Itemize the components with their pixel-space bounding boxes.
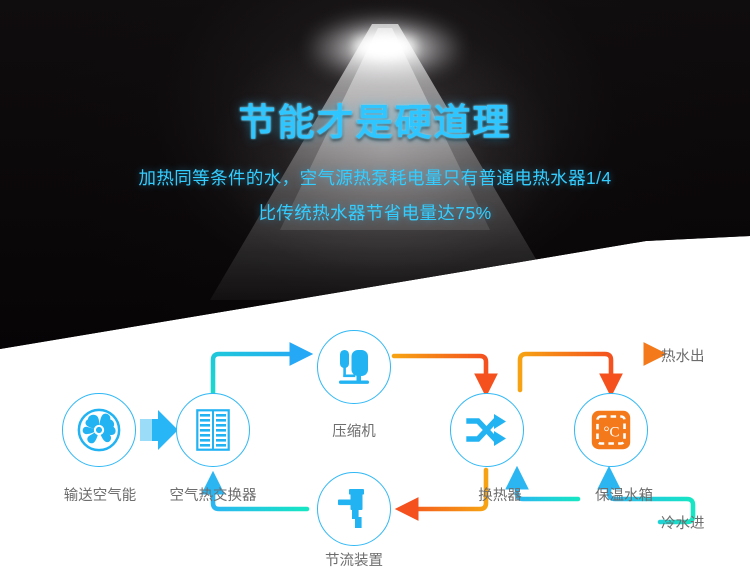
node-water-tank[interactable]: °C bbox=[574, 393, 648, 467]
node-compressor[interactable] bbox=[317, 330, 391, 404]
io-label-hot-water-out: 热水出 bbox=[661, 345, 705, 366]
spotlight-source-icon bbox=[352, 34, 418, 60]
shuffle-arrows-icon bbox=[465, 412, 509, 448]
throttle-valve-icon bbox=[333, 487, 375, 531]
arrow-fan-to-air-exchanger bbox=[140, 410, 178, 450]
fan-icon bbox=[76, 407, 122, 453]
io-label-cold-water-in: 冷水进 bbox=[661, 512, 705, 533]
node-throttle-device[interactable] bbox=[317, 472, 391, 546]
page-title: 节能才是硬道理 bbox=[0, 92, 750, 146]
node-air-supply[interactable] bbox=[62, 393, 136, 467]
node-heat-exchanger[interactable] bbox=[450, 393, 524, 467]
arrow-heat-exchanger-to-tank bbox=[520, 354, 611, 390]
node-label-compressor: 压缩机 bbox=[254, 420, 454, 441]
arrow-compressor-to-heat-exchanger bbox=[394, 356, 486, 390]
subtitle-line-1: 加热同等条件的水，空气源热泵耗电量只有普通电热水器1/4 bbox=[0, 165, 750, 190]
node-air-heat-exchanger[interactable] bbox=[176, 393, 250, 467]
node-label-water-tank: 保温水箱 bbox=[524, 484, 724, 505]
subtitle-line-2: 比传统热水器节省电量达75% bbox=[0, 200, 750, 225]
infographic-canvas: 节能才是硬道理 加热同等条件的水，空气源热泵耗电量只有普通电热水器1/4 比传统… bbox=[0, 0, 750, 580]
node-label-air-heat-exchanger: 空气热交换器 bbox=[113, 484, 313, 505]
compressor-icon bbox=[334, 346, 374, 388]
thermostat-celsius-icon: °C bbox=[591, 410, 631, 450]
svg-text:°C: °C bbox=[603, 425, 619, 441]
arrow-tank-to-hot-water-out bbox=[641, 354, 660, 390]
radiator-grille-icon bbox=[196, 409, 230, 451]
node-label-throttle-device: 节流装置 bbox=[254, 549, 454, 570]
